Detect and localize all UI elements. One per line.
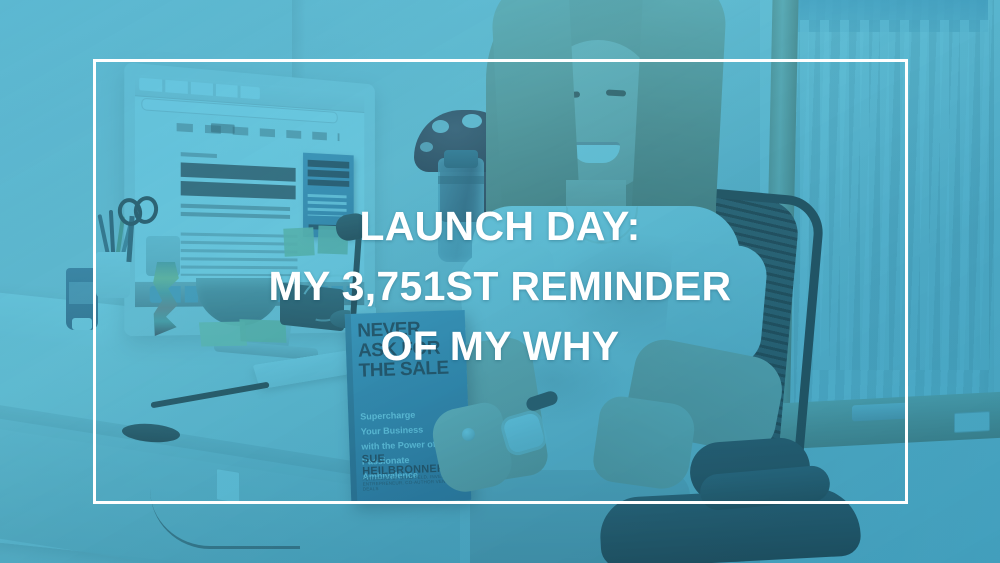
headline: LAUNCH DAY: MY 3,751ST REMINDER OF MY WH… <box>0 196 1000 376</box>
launch-day-banner: NEVER ASK FOR THE SALE Supercharge Your … <box>0 0 1000 563</box>
headline-line-2: MY 3,751ST REMINDER <box>0 256 1000 316</box>
headline-line-3: OF MY WHY <box>0 316 1000 376</box>
headline-line-1: LAUNCH DAY: <box>0 196 1000 256</box>
